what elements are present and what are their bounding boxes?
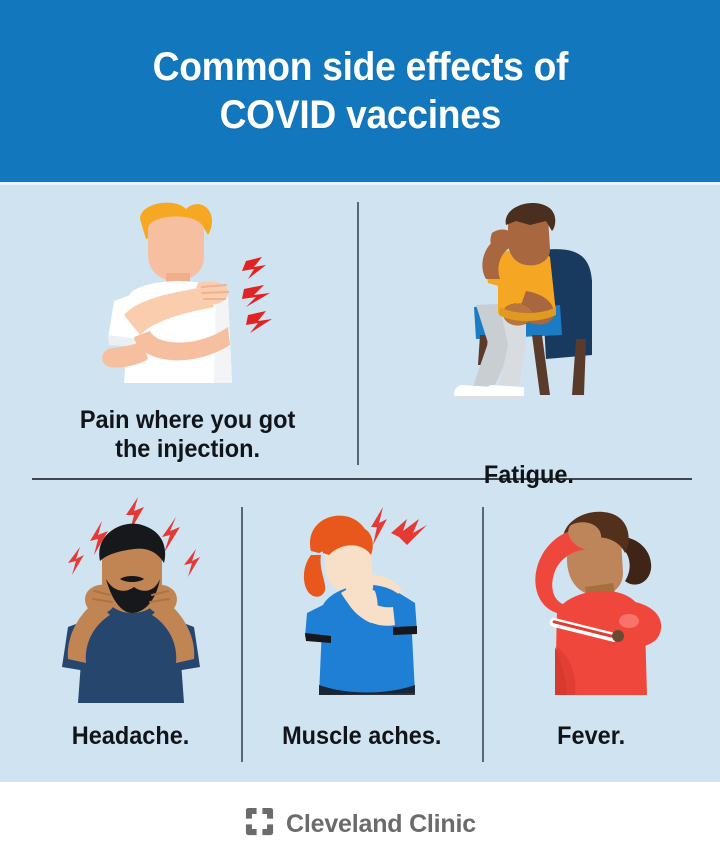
- injection-site-pain-illustration: [78, 195, 298, 400]
- cleveland-clinic-logo: Cleveland Clinic: [244, 806, 476, 842]
- page-title-line-2: COVID vaccines: [219, 91, 500, 139]
- header-banner: Common side effects of COVID vaccines: [0, 0, 720, 182]
- muscle-aches-illustration: [267, 497, 457, 712]
- page-title-line-1: Common side effects of: [152, 43, 568, 91]
- side-effects-panel: Pain where you got the injection.: [0, 185, 720, 782]
- side-effect-item-headache: Headache.: [28, 497, 233, 751]
- side-effect-item-injection-site-pain: Pain where you got the injection.: [28, 195, 348, 464]
- side-effect-caption-injection-site-pain: Pain where you got the injection.: [80, 406, 295, 464]
- pain-lightning-icon: [371, 507, 427, 545]
- infographic-root: Common side effects of COVID vaccines: [0, 0, 720, 866]
- cleveland-clinic-brand-text: Cleveland Clinic: [286, 810, 476, 839]
- side-effect-caption-fever: Fever.: [557, 722, 625, 751]
- side-effect-item-fatigue: Fatigue.: [368, 195, 690, 490]
- side-effect-caption-muscle-aches: Muscle aches.: [282, 722, 441, 751]
- fever-illustration: [501, 497, 681, 712]
- divider-vertical-bottom-left: [241, 507, 243, 762]
- side-effect-caption-fatigue: Fatigue.: [484, 461, 574, 490]
- cleveland-clinic-logo-mark-icon: [244, 806, 275, 842]
- footer-brand-bar: Cleveland Clinic: [0, 782, 720, 866]
- side-effect-item-muscle-aches: Muscle aches.: [250, 497, 474, 751]
- fatigue-illustration: [414, 195, 644, 425]
- divider-vertical-bottom-right: [482, 507, 484, 762]
- side-effect-item-fever: Fever.: [492, 497, 690, 751]
- headache-illustration: [38, 497, 223, 712]
- side-effect-caption-headache: Headache.: [72, 722, 190, 751]
- pain-zigzag-icon: [242, 257, 272, 333]
- divider-vertical-top: [357, 202, 359, 465]
